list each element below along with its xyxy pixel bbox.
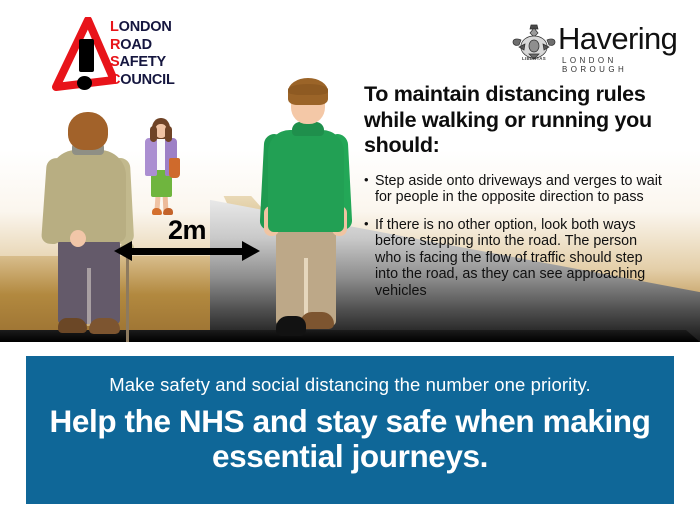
green-man-left-shoe [276,316,306,336]
lrsc-rest-council: OUNCIL [120,72,174,88]
lrsc-cap-c: C [110,72,120,88]
lrsc-word-road: ROAD [110,37,210,55]
distance-label: 2m [112,215,262,246]
woman-left-shoe [152,208,162,215]
elder-right-shoe [89,318,120,334]
woman-right-shoe [163,208,173,215]
elder-left-hand [70,230,86,247]
banner-headline: Help the NHS and stay safe when making e… [26,396,674,473]
london-road-safety-council-logo: LONDON ROAD SAFETY COUNCIL [48,17,208,93]
guidance-copy: To maintain distancing rules while walki… [364,82,664,311]
woman-hair-side-left [165,126,172,142]
woman-jacket-left [145,138,157,176]
guidance-bullet-1: Step aside onto driveways and verges to … [364,173,664,206]
lrsc-rest-london: ONDON [119,19,172,35]
guidance-bullet-list: Step aside onto driveways and verges to … [364,173,664,300]
havering-wordmark: Havering [558,22,677,56]
exclamation-bar-icon [79,39,94,72]
green-man-jumper [268,130,344,232]
lrsc-cap-r: R [110,37,120,53]
crest-motto: LIBERTAS [512,56,556,61]
woman-with-handbag [139,118,183,216]
lrsc-word-council: COUNCIL [110,72,210,90]
lrsc-rest-safety: AFETY [119,54,166,70]
guidance-heading: To maintain distancing rules while walki… [364,82,664,159]
guidance-bullet-2: If there is no other option, look both w… [364,217,664,300]
lrsc-word-london: LONDON [110,19,210,37]
lrsc-cap-l: L [110,19,119,35]
green-man-collar [292,122,324,136]
lrsc-wordmark: LONDON ROAD SAFETY COUNCIL [110,19,210,89]
man-in-green-jumper [258,78,354,340]
handbag [169,158,180,178]
havering-london-borough-logo: LIBERTAS Havering LONDON BOROUGH [512,20,680,72]
green-man-fringe [288,84,328,95]
elder-hair [68,112,108,150]
lrsc-word-safety: SAFETY [110,54,210,72]
banner-subline: Make safety and social distancing the nu… [26,356,674,396]
elder-left-shoe [58,318,87,333]
call-to-action-banner: Make safety and social distancing the nu… [26,356,674,504]
lrsc-rest-road: OAD [120,37,152,53]
two-metre-distance-indicator: 2m [112,215,262,263]
woman-hair-side-right [150,126,157,142]
havering-subtitle: LONDON BOROUGH [562,56,680,74]
road-safety-poster: 2m LONDON ROAD SAFETY COUNCIL [0,0,700,525]
exclamation-dot-icon [77,76,92,90]
arrow-shaft [130,248,246,255]
elder-leg-split [87,268,91,326]
arrow-head-right-icon [242,241,260,261]
